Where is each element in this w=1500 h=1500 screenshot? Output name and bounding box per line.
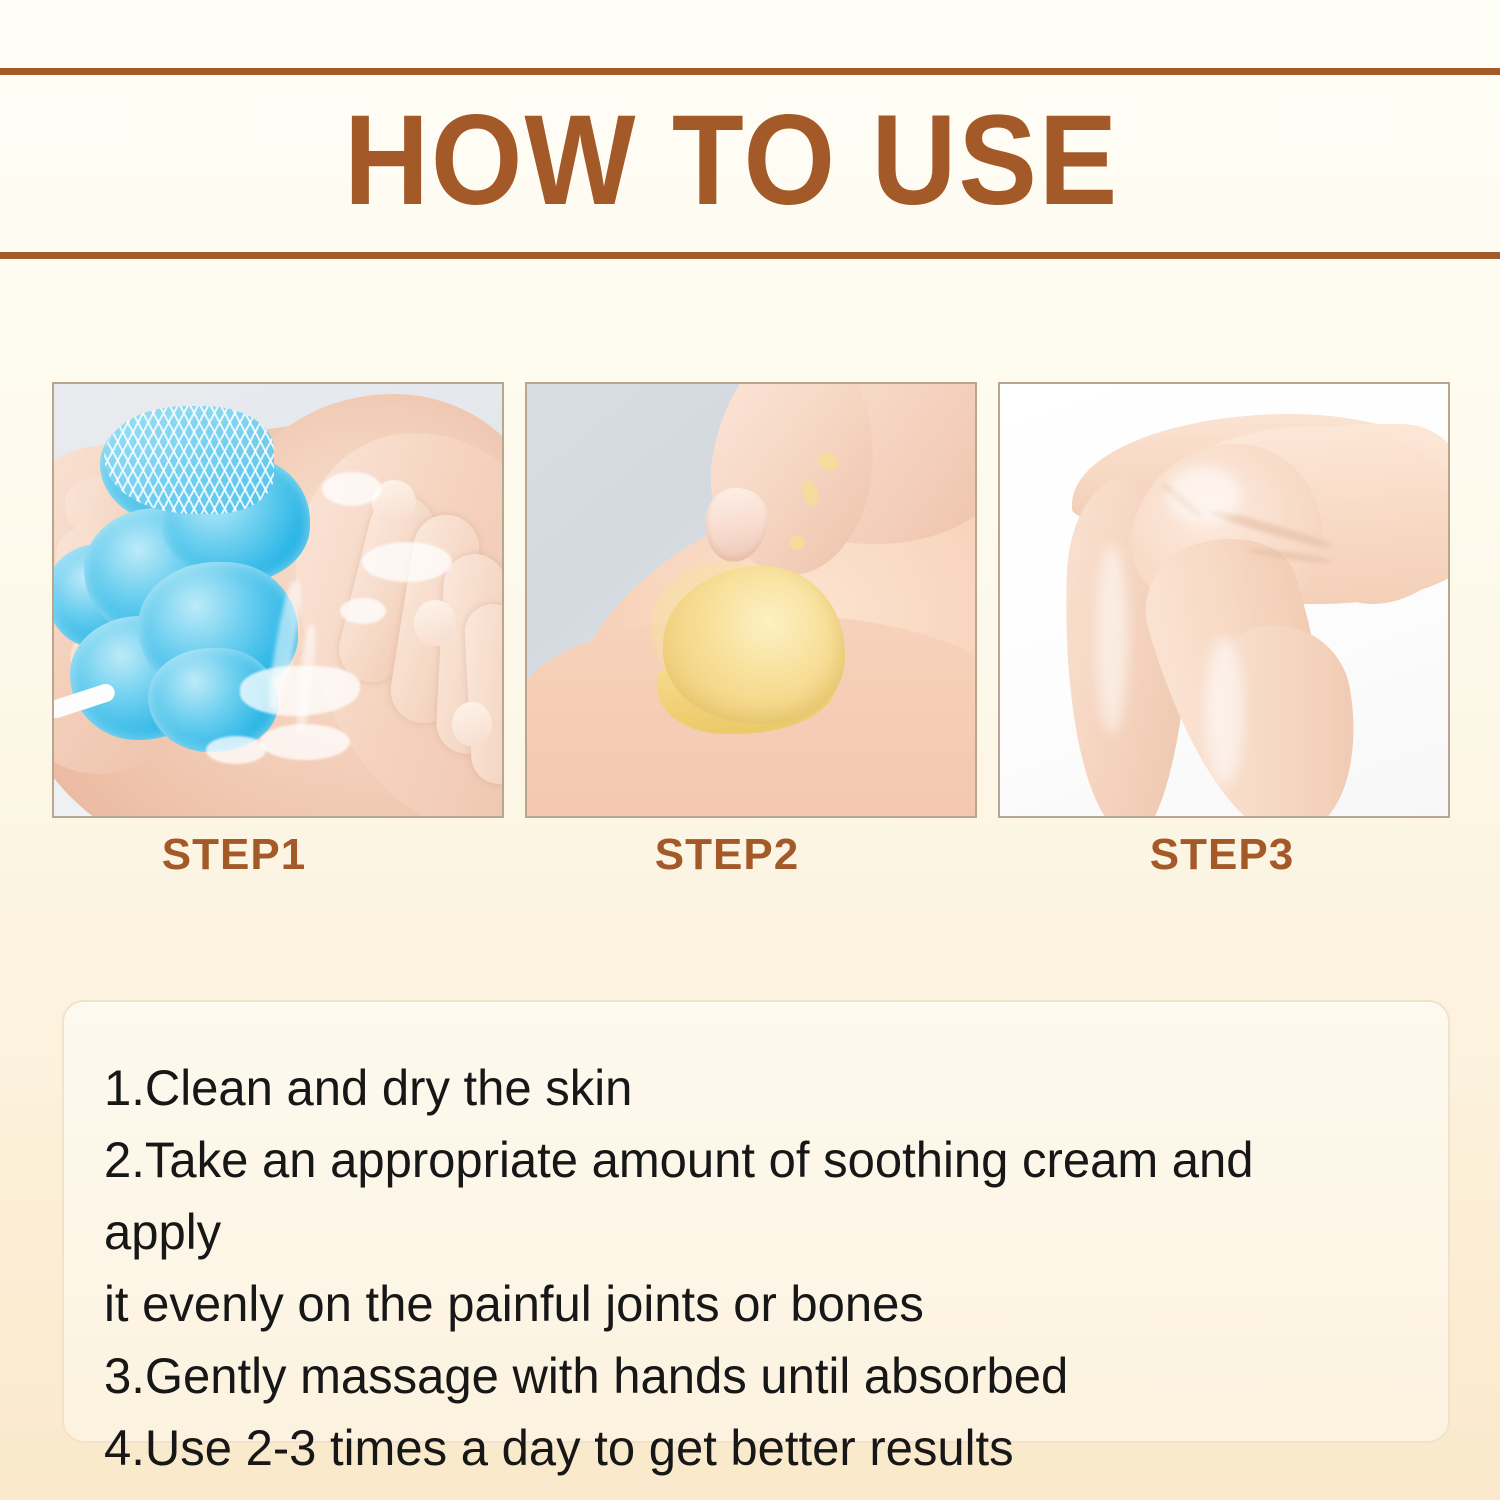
soap-suds <box>322 472 382 506</box>
skin-highlight <box>1204 636 1244 786</box>
instruction-line: 3.Gently massage with hands until absorb… <box>104 1340 1382 1412</box>
steps-row: STEP1 STEP2 <box>52 382 1450 892</box>
skin-highlight <box>1166 466 1242 524</box>
step-1: STEP1 <box>52 382 504 892</box>
instruction-line: 2.Take an appropriate amount of soothing… <box>104 1124 1382 1268</box>
instruction-line: 1.Clean and dry the skin <box>104 1052 1382 1124</box>
soap-suds <box>206 736 266 764</box>
fingernail-shape <box>452 702 492 746</box>
step-2-label: STEP2 <box>501 830 953 880</box>
step-2: STEP2 <box>525 382 977 892</box>
instruction-line: 4.Use 2-3 times a day to get better resu… <box>104 1412 1382 1484</box>
how-to-use-infographic: HOW TO USE <box>0 0 1500 1500</box>
step-3-label: STEP3 <box>996 830 1448 880</box>
instruction-line: it evenly on the painful joints or bones <box>104 1268 1382 1340</box>
step-1-photo <box>52 382 504 818</box>
cream-fleck <box>789 536 805 550</box>
instructions-list: 1.Clean and dry the skin 2.Take an appro… <box>104 1052 1408 1484</box>
fingernail-shape <box>414 600 456 646</box>
page-title: HOW TO USE <box>42 88 1422 234</box>
cream-dollop <box>663 566 845 724</box>
header: HOW TO USE <box>0 0 1500 300</box>
instructions-panel: 1.Clean and dry the skin 2.Take an appro… <box>62 1000 1450 1443</box>
step-3-photo <box>998 382 1450 818</box>
soap-suds <box>340 598 386 624</box>
header-top-rule <box>0 68 1500 75</box>
soap-suds <box>362 542 452 582</box>
step-2-photo <box>525 382 977 818</box>
step-1-label: STEP1 <box>8 830 460 880</box>
step-3: STEP3 <box>998 382 1450 892</box>
soap-suds <box>260 724 350 760</box>
skin-highlight <box>1096 544 1128 734</box>
header-bottom-rule <box>0 252 1500 259</box>
